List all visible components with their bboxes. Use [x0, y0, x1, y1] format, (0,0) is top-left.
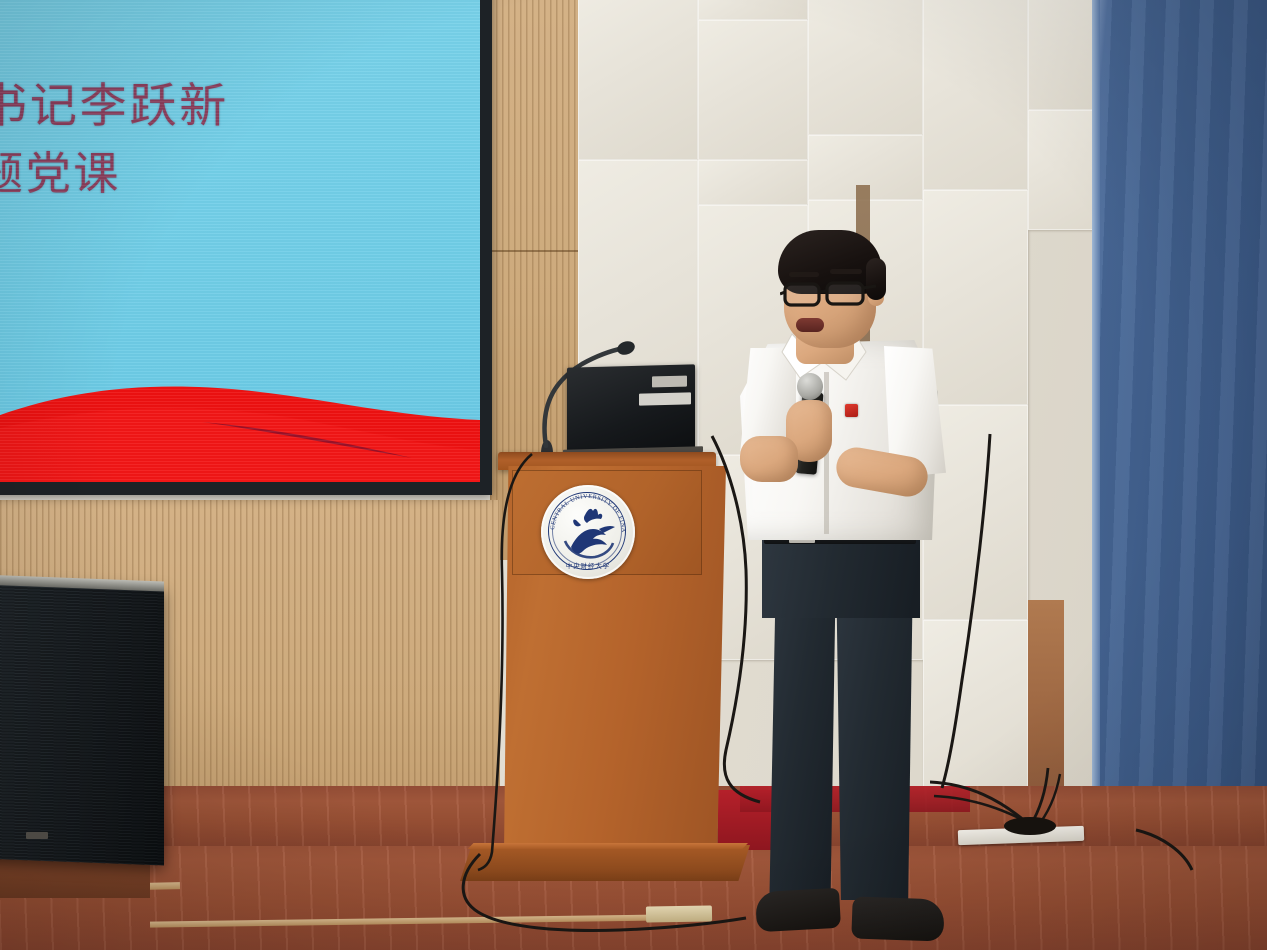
- wall-panel: [923, 190, 1028, 405]
- slat-seam: [490, 250, 582, 252]
- slide-line-1: 书记李跃新: [0, 84, 229, 131]
- emblem-text-ring: CENTRAL UNIVERSITY OF FINANCE AND ECONOM…: [541, 485, 635, 579]
- eyebrow-right: [830, 269, 862, 274]
- wall-panel: [1028, 110, 1098, 230]
- wall-panel: [923, 0, 1028, 190]
- shoe-left: [755, 888, 841, 932]
- slide-red-wave-graphic: [0, 372, 480, 482]
- wall-panel: [1028, 0, 1098, 110]
- wall-panel: [808, 0, 923, 135]
- stage-curtain: [1098, 0, 1267, 830]
- wall-panel: [698, 20, 808, 160]
- party-pin: [845, 404, 858, 417]
- projection-screen: 书记李跃新 题党课: [0, 0, 492, 495]
- wall-panel: [698, 0, 808, 20]
- loudspeaker-cabinet: [0, 581, 164, 866]
- floor-tape-marker: [646, 905, 712, 922]
- eyebrow-left: [789, 272, 819, 277]
- loudspeaker-badge: [26, 832, 48, 839]
- floor-cable-left: [420, 850, 750, 950]
- laptop-label: [652, 376, 687, 388]
- mouth: [796, 318, 824, 332]
- svg-text:中央财经大学: 中央财经大学: [566, 561, 610, 570]
- glasses: [780, 278, 880, 312]
- projection-screen-surface: 书记李跃新 题党课: [0, 0, 480, 480]
- slide-line-2: 题党课: [0, 152, 121, 197]
- curtain-highlight-edge: [1092, 0, 1100, 830]
- cable-bundle: [930, 760, 1110, 840]
- shoe-right: [851, 896, 944, 941]
- podium-cable: [470, 452, 550, 872]
- mic-cable-loop: [1132, 826, 1252, 886]
- wall-panel: [698, 160, 808, 205]
- laptop-sticker: [639, 392, 691, 405]
- lecture-hall-photo: 书记李跃新 题党课: [0, 0, 1267, 950]
- wall-panel: [578, 0, 698, 160]
- university-emblem: CENTRAL UNIVERSITY OF FINANCE AND ECONOM…: [541, 485, 635, 579]
- svg-text:CENTRAL UNIVERSITY OF FINANCE: CENTRAL UNIVERSITY OF FINANCE AND ECONOM…: [541, 485, 626, 533]
